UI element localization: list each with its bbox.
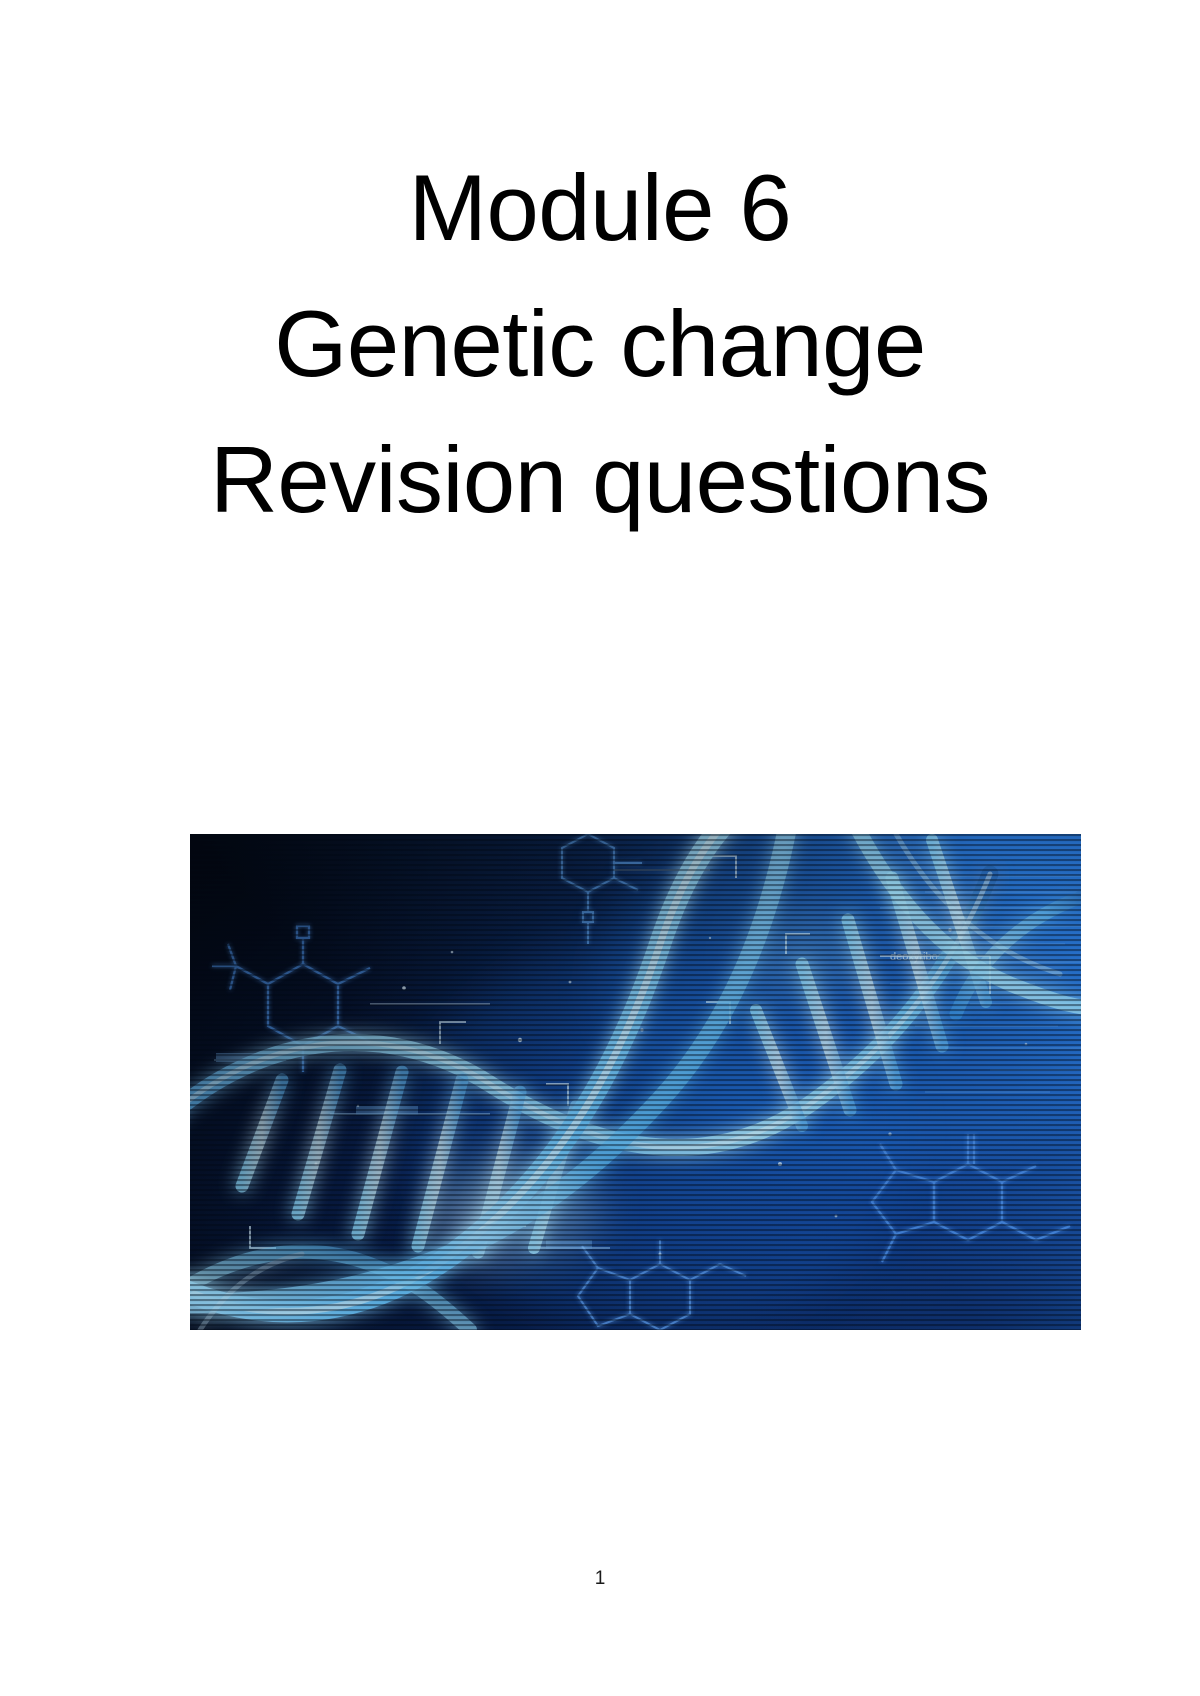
title-line-module: Module 6: [0, 140, 1200, 276]
dna-illustration-svg: deoxyribose: [190, 834, 1081, 1330]
page-number: 1: [0, 1568, 1200, 1590]
dna-figure-container: deoxyribose: [190, 834, 1081, 1330]
page-title: Module 6 Genetic change Revision questio…: [0, 140, 1200, 548]
document-page: Module 6 Genetic change Revision questio…: [0, 0, 1200, 1696]
title-line-topic: Genetic change: [0, 276, 1200, 412]
dna-double-helix-illustration: deoxyribose: [190, 834, 1081, 1330]
title-line-subtitle: Revision questions: [0, 412, 1200, 548]
